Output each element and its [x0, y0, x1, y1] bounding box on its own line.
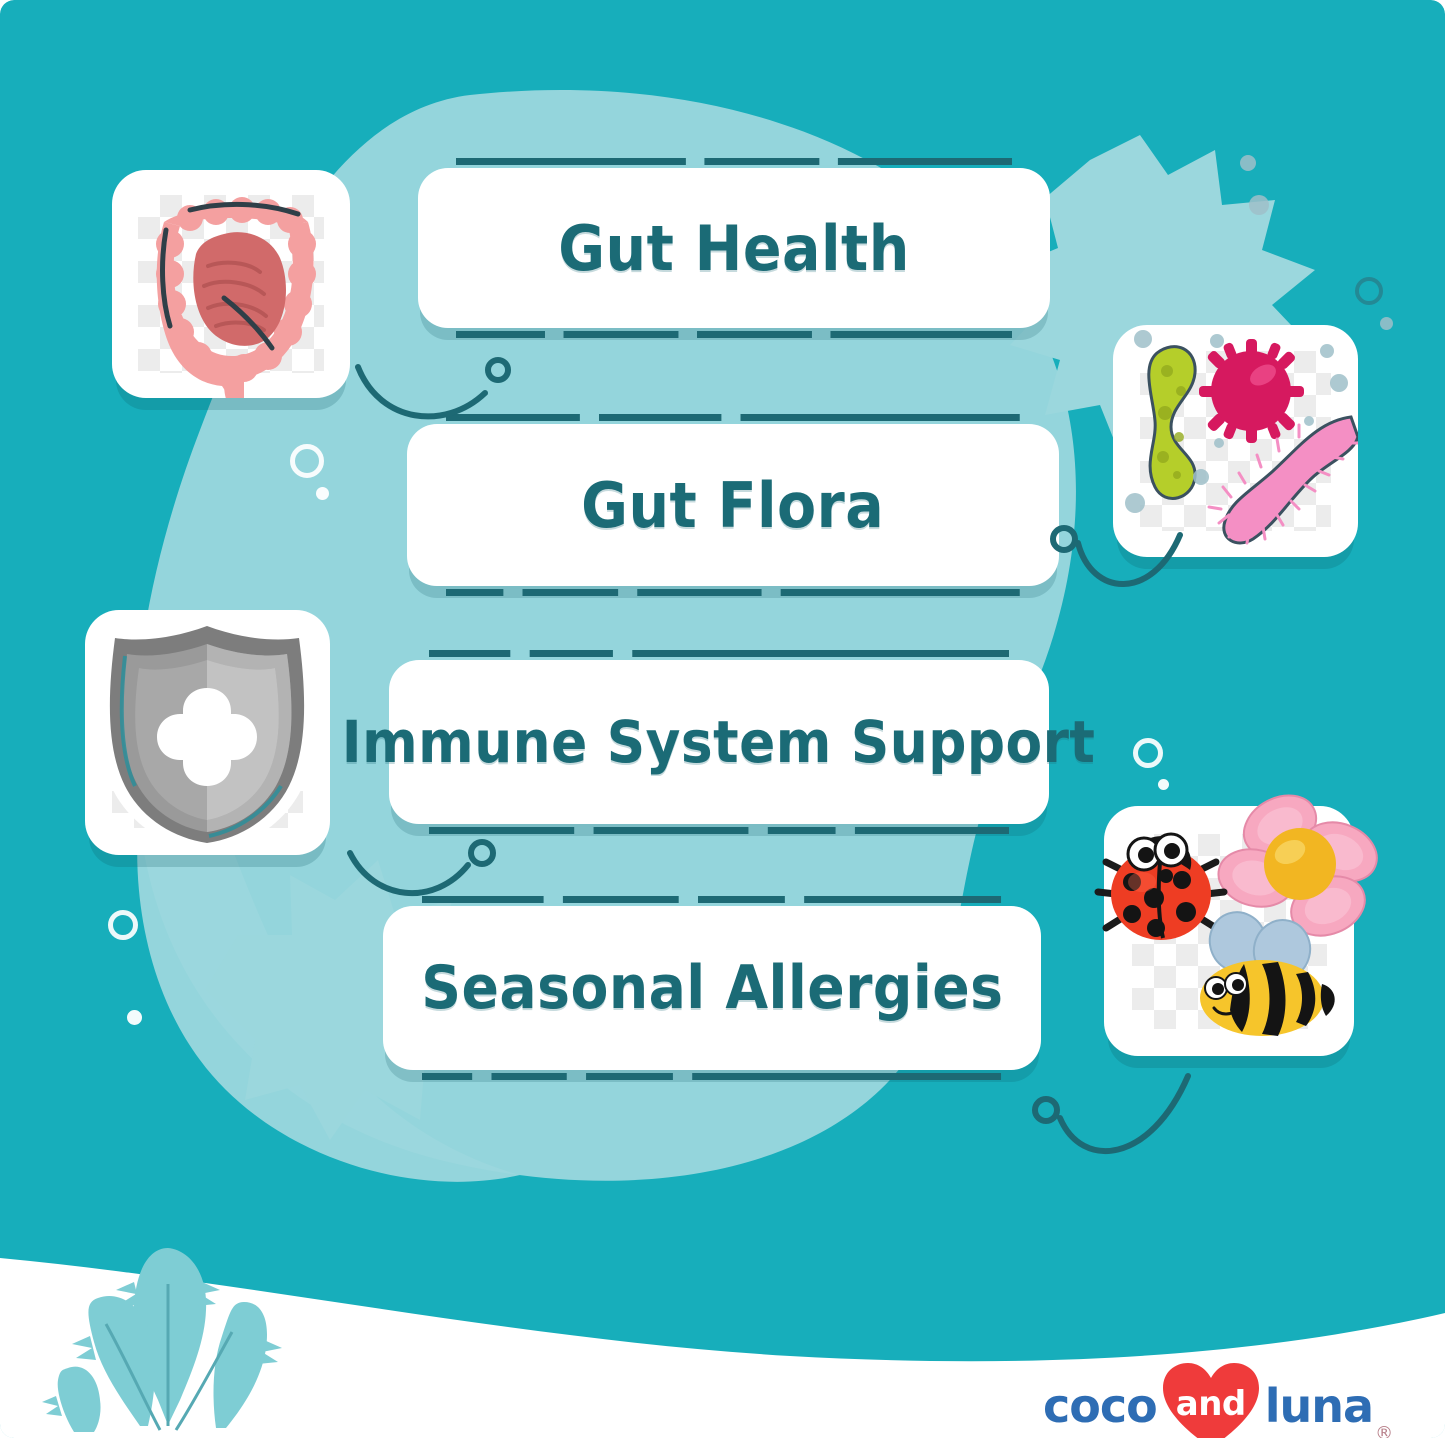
bubble-ring-outline-dark — [1355, 277, 1383, 305]
intestine-icon — [112, 170, 350, 398]
icon-card-allergens[interactable] — [1104, 806, 1354, 1056]
benefit-label: Seasonal Allergies — [421, 953, 1003, 1023]
benefit-pill-seasonal-allergies[interactable]: Seasonal Allergies — [383, 906, 1041, 1070]
benefit-pill-immune-support[interactable]: Immune System Support — [389, 660, 1049, 824]
bubble-dot-lower — [127, 1010, 142, 1025]
bubble-ring-medium — [1133, 738, 1163, 768]
logo-word-luna: luna — [1265, 1383, 1373, 1429]
dashed-accent-top — [446, 414, 1020, 421]
benefit-label: Gut Health — [558, 212, 909, 285]
icon-card-intestine[interactable] — [112, 170, 350, 398]
dashed-accent-bottom — [456, 331, 1012, 338]
logo-word-coco: coco — [1043, 1383, 1157, 1429]
bubble-dot-grayblue-c — [1380, 317, 1393, 330]
bubble-dot-tiny — [1158, 779, 1169, 790]
dashed-accent-bottom — [446, 589, 1020, 596]
dashed-accent-bottom — [429, 827, 1010, 834]
dashed-accent-top — [456, 158, 1012, 165]
brand-logo[interactable]: coco and luna ® — [1043, 1360, 1393, 1438]
microbes-icon — [1113, 325, 1358, 557]
bubble-dot-grayblue-a — [1240, 155, 1256, 171]
heart-icon: and — [1159, 1360, 1263, 1438]
bubble-dot-grayblue-b — [1249, 195, 1269, 215]
infographic-canvas: Gut Health Gut Flora Immune System Suppo… — [0, 0, 1445, 1438]
benefit-pill-gut-health[interactable]: Gut Health — [418, 168, 1050, 328]
bubble-ring-large — [290, 444, 324, 478]
registered-trademark-symbol: ® — [1375, 1423, 1393, 1438]
logo-word-and: and — [1176, 1384, 1246, 1424]
shield-plus-icon — [85, 610, 330, 855]
icon-card-shield[interactable] — [85, 610, 330, 855]
allergens-icon — [1104, 806, 1354, 1056]
dashed-accent-top — [422, 896, 1001, 903]
benefit-label: Immune System Support — [342, 708, 1096, 776]
dashed-accent-bottom — [422, 1073, 1001, 1080]
bubble-ring-small — [108, 910, 138, 940]
dashed-accent-top — [429, 650, 1010, 657]
ladybug-sub-icon — [1098, 834, 1224, 940]
benefit-pill-gut-flora[interactable]: Gut Flora — [407, 424, 1059, 586]
icon-card-microbes[interactable] — [1113, 325, 1358, 557]
benefit-label: Gut Flora — [581, 469, 884, 542]
bubble-dot-small — [316, 487, 329, 500]
